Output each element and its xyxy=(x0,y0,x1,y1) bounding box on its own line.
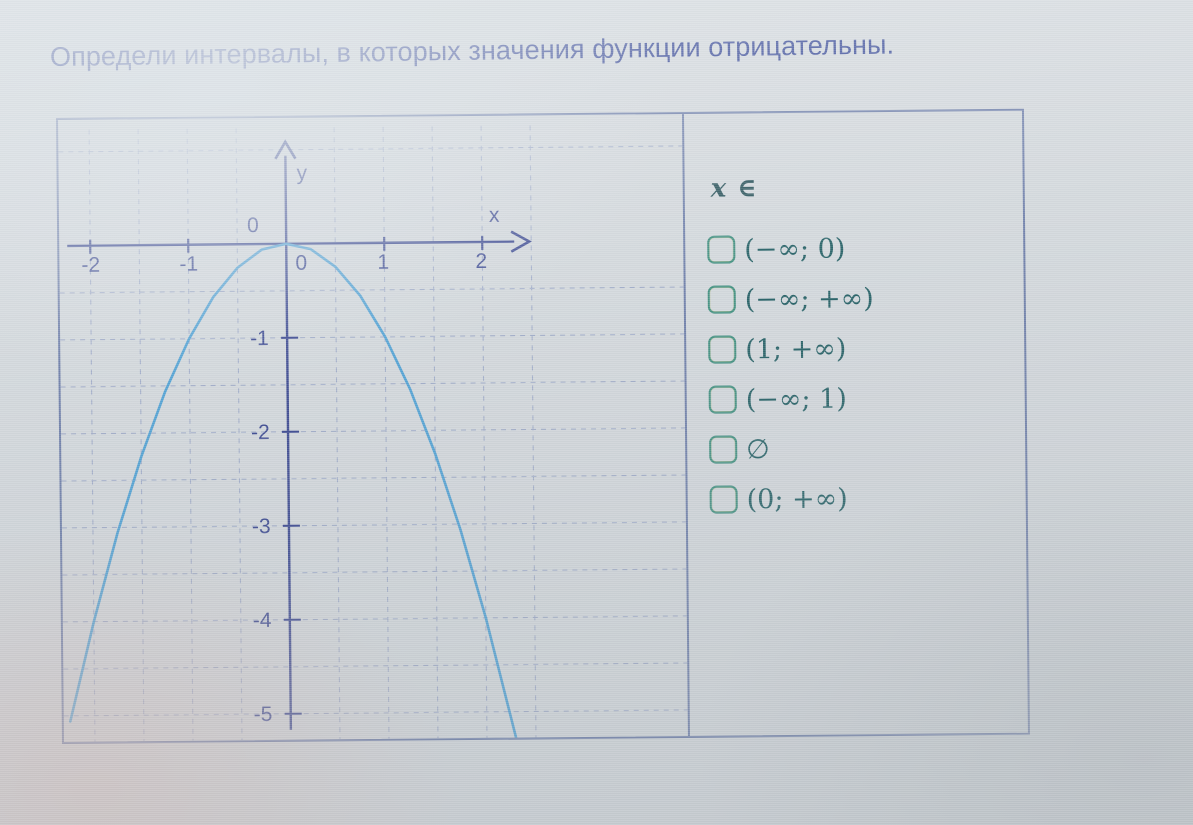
xtick-label-0: 0 xyxy=(295,252,307,275)
ytick-label--4: -4 xyxy=(253,609,272,632)
option-label-5[interactable]: (0; +∞) xyxy=(747,485,848,513)
option-label-0[interactable]: (−∞; 0) xyxy=(744,235,845,263)
option-row-3[interactable]: (−∞; 1) xyxy=(709,379,1029,418)
xtick-label-2: 2 xyxy=(475,250,487,273)
y-axis xyxy=(275,142,302,730)
question-panel: y x -2 -1 0 1 2 0 -1 -2 -3 -4 -5 xyxy=(56,109,1030,744)
answer-options-panel: x ∈ (−∞; 0) (−∞; +∞) (1; +∞) (−∞; 1) ∅ xyxy=(684,111,1032,736)
checkbox-option-3[interactable] xyxy=(709,385,737,413)
checkbox-option-5[interactable] xyxy=(710,485,738,513)
xtick-label-1: 1 xyxy=(377,251,389,274)
ytick-label--3: -3 xyxy=(252,515,271,538)
option-row-4[interactable]: ∅ xyxy=(709,429,1029,468)
origin-label: 0 xyxy=(247,214,259,237)
ytick-label--2: -2 xyxy=(251,421,270,444)
option-label-1[interactable]: (−∞; +∞) xyxy=(745,285,874,313)
option-label-3[interactable]: (−∞; 1) xyxy=(746,385,847,413)
option-row-1[interactable]: (−∞; +∞) xyxy=(708,279,1028,318)
xtick-label--1: -1 xyxy=(179,253,198,276)
x-axis-label: x xyxy=(489,204,500,227)
graph-area: y x -2 -1 0 1 2 0 -1 -2 -3 -4 -5 xyxy=(58,114,688,742)
option-row-5[interactable]: (0; +∞) xyxy=(710,479,1030,518)
checkbox-option-2[interactable] xyxy=(708,335,736,363)
y-axis-label: y xyxy=(296,162,307,185)
coordinate-plane-chart: y x -2 -1 0 1 2 0 -1 -2 -3 -4 -5 xyxy=(58,114,688,742)
page-title: Определи интервалы, в которых значения ф… xyxy=(50,26,1140,73)
x-membership-prompt: x ∈ xyxy=(711,171,1027,204)
option-row-2[interactable]: (1; +∞) xyxy=(708,329,1028,368)
ytick-label--1: -1 xyxy=(250,327,269,350)
checkbox-option-0[interactable] xyxy=(707,235,735,263)
xtick-label--2: -2 xyxy=(81,254,100,277)
option-label-4[interactable]: ∅ xyxy=(746,436,770,463)
checkbox-option-1[interactable] xyxy=(708,285,736,313)
checkbox-option-4[interactable] xyxy=(709,435,737,463)
screenshot-root: Определи интервалы, в которых значения ф… xyxy=(0,0,1193,825)
option-row-0[interactable]: (−∞; 0) xyxy=(707,229,1027,268)
ytick-label--5: -5 xyxy=(254,703,273,726)
grid-lines xyxy=(58,124,688,742)
option-label-2[interactable]: (1; +∞) xyxy=(745,335,846,363)
